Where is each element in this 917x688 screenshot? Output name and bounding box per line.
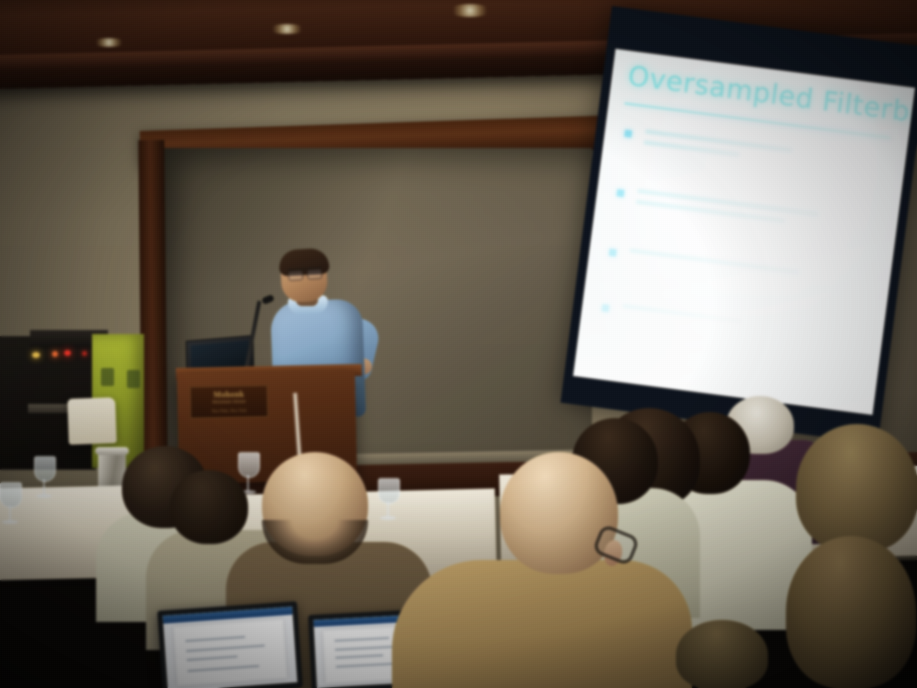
bullet-text-lines	[621, 304, 741, 330]
recessed-ceiling-light-icon	[92, 38, 126, 47]
indicator-led-icon	[82, 351, 87, 356]
audience-member-head-foreground	[500, 452, 618, 574]
square-bullet-icon	[617, 189, 625, 197]
square-bullet-icon	[624, 130, 632, 138]
recessed-ceiling-light-icon	[268, 24, 306, 34]
audience-member-head-foreground	[786, 536, 916, 688]
audience-laptop-screen	[163, 607, 298, 688]
square-bullet-icon	[609, 249, 617, 257]
audience-member-head	[170, 470, 248, 544]
cabinet-vent	[127, 370, 140, 388]
presenter-glasses-icon	[288, 267, 323, 279]
audience-laptop	[157, 601, 303, 688]
indicator-led-icon	[52, 351, 58, 357]
bullet-text-lines	[629, 248, 799, 281]
indicator-led-icon	[32, 352, 40, 358]
square-bullet-icon	[602, 304, 610, 312]
cabinet-vent	[101, 368, 114, 386]
presentation-photo: Oversampled Filterbanks	[0, 0, 917, 688]
projection-screen: Oversampled Filterbanks	[560, 6, 917, 444]
indicator-led-icon	[64, 350, 71, 356]
laptop-document-window	[174, 619, 287, 686]
water-pitcher-lid	[95, 447, 129, 455]
bullet-text-lines	[635, 189, 818, 234]
podium-plaque-line-2: Mountain House	[191, 399, 267, 406]
white-chair	[67, 397, 117, 445]
audience-member-head	[796, 424, 917, 552]
audience-member-body-foreground	[392, 560, 692, 688]
bullet-text-lines	[643, 129, 793, 170]
podium-plaque: Mohonk Mountain House New Paltz, New Yor…	[190, 385, 269, 419]
podium-plaque-line-3: New Paltz, New York	[191, 407, 267, 414]
audience-member-head	[676, 620, 768, 688]
podium-plaque-line-1: Mohonk	[191, 389, 267, 400]
projected-slide: Oversampled Filterbanks	[573, 49, 915, 415]
slide-title: Oversampled Filterbanks	[626, 61, 915, 137]
recessed-ceiling-light-icon	[448, 4, 492, 17]
